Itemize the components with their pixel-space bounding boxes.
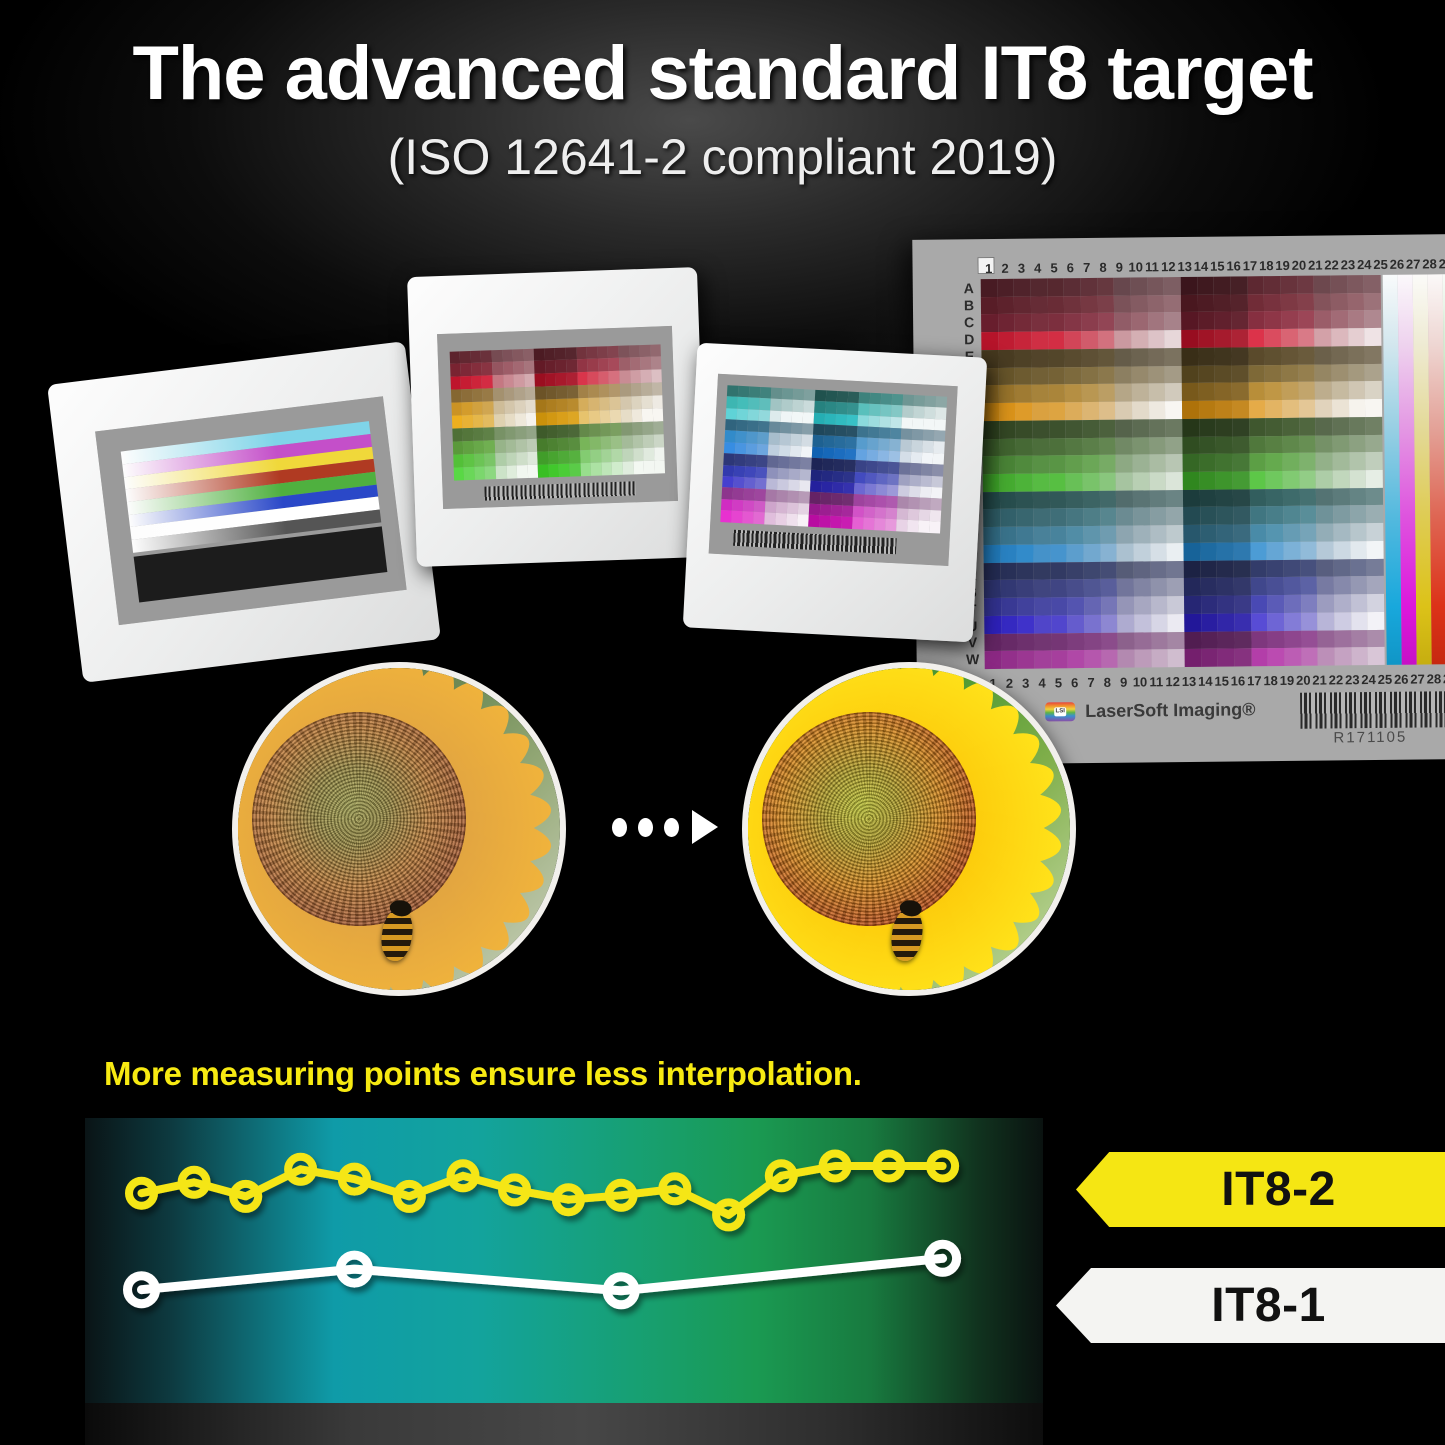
it8-color-patch bbox=[1315, 346, 1332, 364]
it8-color-patch bbox=[1051, 633, 1068, 651]
it8-color-patch bbox=[1284, 577, 1301, 595]
slide-2-patch bbox=[650, 344, 661, 357]
it8-color-patch bbox=[1264, 276, 1281, 294]
it8-color-patch bbox=[1068, 650, 1085, 668]
slide-2-patch bbox=[525, 387, 536, 400]
it8-color-patch bbox=[1133, 508, 1150, 526]
it8-color-patch bbox=[1014, 296, 1031, 314]
slide-2-patch bbox=[453, 441, 464, 454]
it8-color-patch bbox=[1118, 650, 1135, 668]
slide-2-patch bbox=[514, 375, 525, 388]
slide-3-patch bbox=[897, 508, 909, 520]
slide-2-patch bbox=[651, 357, 662, 370]
slide-2-patch bbox=[495, 453, 506, 466]
it8-color-patch bbox=[1249, 453, 1266, 471]
slide-3-patch bbox=[720, 510, 732, 522]
it8-color-patch bbox=[1099, 402, 1116, 420]
it8-color-patch bbox=[1015, 350, 1032, 368]
slide-3-patch bbox=[847, 403, 859, 415]
it8-row-letter: B bbox=[964, 298, 974, 315]
it8-color-patch bbox=[1365, 346, 1382, 364]
legend-it8-1-label: IT8-1 bbox=[1175, 1278, 1326, 1333]
it8-color-patch bbox=[1000, 509, 1017, 527]
it8-color-patch bbox=[1064, 278, 1081, 296]
it8-color-patch bbox=[1066, 509, 1083, 527]
it8-color-patch bbox=[1148, 330, 1165, 348]
it8-color-patch bbox=[1331, 311, 1348, 329]
it8-color-patch bbox=[1184, 560, 1201, 578]
it8-color-patch bbox=[1264, 311, 1281, 329]
slide-2-patch bbox=[608, 345, 619, 358]
slide-3-patch bbox=[767, 456, 779, 468]
slide-3-patch bbox=[919, 509, 931, 521]
slide-2-patch bbox=[503, 375, 514, 388]
it8-color-patch bbox=[1033, 473, 1050, 491]
slide-3-patch bbox=[932, 464, 944, 476]
slide-3-patch bbox=[854, 483, 866, 495]
slide-3-patch bbox=[811, 458, 823, 470]
page-subtitle: (ISO 12641-2 compliant 2019) bbox=[0, 128, 1445, 186]
slide-2-patch bbox=[471, 376, 482, 389]
it8-color-patch bbox=[1299, 417, 1316, 435]
slide-2-patch bbox=[473, 428, 484, 441]
series-it8-2 bbox=[129, 1154, 955, 1228]
slide-2-patch bbox=[502, 349, 513, 362]
it8-color-patch bbox=[1065, 349, 1082, 367]
it8-color-patch bbox=[1017, 544, 1034, 562]
slide-3-patch bbox=[824, 413, 836, 425]
it8-color-patch bbox=[1283, 524, 1300, 542]
it8-column-number: 5 bbox=[1046, 260, 1062, 275]
slide-2-patch bbox=[556, 386, 567, 399]
slide-2-patch bbox=[641, 383, 652, 396]
it8-column-number: 18 bbox=[1262, 673, 1278, 688]
it8-column-number: 28 bbox=[1421, 256, 1437, 271]
it8-color-patch bbox=[1283, 542, 1300, 560]
it8-color-patch bbox=[1267, 560, 1284, 578]
it8-color-patch bbox=[1100, 526, 1117, 544]
slide-3-patch bbox=[766, 467, 778, 479]
it8-color-patch bbox=[1282, 435, 1299, 453]
slide-3-patch bbox=[798, 491, 810, 503]
it8-color-patch bbox=[1316, 435, 1333, 453]
slide-3-patch bbox=[744, 477, 756, 489]
it8-color-patch bbox=[1032, 403, 1049, 421]
slide-2-patch bbox=[612, 449, 623, 462]
it8-color-patch bbox=[1081, 349, 1098, 367]
slide-3-patch bbox=[880, 416, 892, 428]
it8-color-patch bbox=[1048, 314, 1065, 332]
it8-color-patch bbox=[1283, 471, 1300, 489]
it8-color-patch bbox=[1265, 365, 1282, 383]
slide-3-patch bbox=[821, 481, 833, 493]
it8-color-patch bbox=[1349, 470, 1366, 488]
slide-2-patch bbox=[589, 398, 600, 411]
it8-color-patch bbox=[1299, 453, 1316, 471]
slide-2-patch bbox=[612, 462, 623, 475]
it8-color-patch bbox=[1366, 488, 1383, 506]
it8-row-letter: D bbox=[964, 332, 974, 349]
slide-3-patch bbox=[864, 495, 876, 507]
slide-2-patch bbox=[527, 439, 538, 452]
it8-color-patch bbox=[1251, 631, 1268, 649]
slide-3-patch bbox=[911, 452, 923, 464]
transition-dot-icon bbox=[638, 818, 653, 837]
slide-2-patch bbox=[462, 402, 473, 415]
slide-3-patch bbox=[900, 440, 912, 452]
it8-color-patch bbox=[1034, 615, 1051, 633]
slide-3-patch bbox=[869, 415, 881, 427]
it8-color-patch bbox=[1031, 296, 1048, 314]
it8-column-number: 13 bbox=[1181, 673, 1197, 688]
it8-color-patch bbox=[1134, 614, 1151, 632]
it8-color-patch bbox=[1132, 419, 1149, 437]
slide-3-patch bbox=[771, 387, 783, 399]
slide-3-patch bbox=[826, 390, 838, 402]
it8-color-patch bbox=[1350, 506, 1367, 524]
it8-color-patch bbox=[1048, 349, 1065, 367]
it8-color-patch bbox=[1149, 401, 1166, 419]
it8-color-patch bbox=[1116, 455, 1133, 473]
slide-3-patch bbox=[842, 505, 854, 517]
serial-number: R171105 bbox=[1333, 729, 1407, 747]
slide-2-film-window bbox=[437, 326, 678, 509]
slide-2-patch bbox=[557, 412, 568, 425]
it8-color-patch bbox=[1266, 506, 1283, 524]
slide-2-patch bbox=[526, 413, 537, 426]
slide-2-patch bbox=[517, 465, 528, 478]
it8-color-patch bbox=[1151, 596, 1168, 614]
it8-color-patch bbox=[984, 633, 1001, 651]
slide-3-patch bbox=[743, 500, 755, 512]
slide-3-patch bbox=[877, 461, 889, 473]
it8-color-patch bbox=[1017, 527, 1034, 545]
slide-2-patch bbox=[473, 415, 484, 428]
it8-color-patch bbox=[1066, 491, 1083, 509]
slide-2-patch bbox=[587, 346, 598, 359]
it8-color-patch bbox=[1100, 508, 1117, 526]
slide-2-patch bbox=[534, 348, 545, 361]
slide-2-patch bbox=[558, 425, 569, 438]
slide-3-patch bbox=[836, 402, 848, 414]
it8-column-number: 4 bbox=[1029, 260, 1045, 275]
slide-2-patch bbox=[535, 387, 546, 400]
slide-2-patch bbox=[503, 362, 514, 375]
it8-color-patch bbox=[1250, 524, 1267, 542]
it8-color-patch bbox=[1314, 293, 1331, 311]
slide-3-patch bbox=[857, 426, 869, 438]
it8-color-patch bbox=[1315, 382, 1332, 400]
slide-3-patch bbox=[793, 388, 805, 400]
it8-color-patch bbox=[1331, 346, 1348, 364]
slide-3-patch bbox=[744, 466, 756, 478]
slide-3-patch bbox=[856, 449, 868, 461]
it8-color-patch bbox=[1231, 312, 1248, 330]
it8-color-patch bbox=[1248, 383, 1265, 401]
slide-2-patch bbox=[484, 440, 495, 453]
slide-3-patch bbox=[907, 520, 919, 532]
it8-color-patch bbox=[1165, 330, 1182, 348]
it8-color-patch bbox=[1298, 293, 1315, 311]
it8-color-patch bbox=[1364, 293, 1381, 311]
it8-color-patch bbox=[1318, 648, 1335, 666]
it8-color-patch bbox=[1132, 366, 1149, 384]
it8-color-patch bbox=[1267, 577, 1284, 595]
it8-color-patch bbox=[1200, 489, 1217, 507]
slide-3-patch bbox=[732, 499, 744, 511]
it8-color-patch bbox=[1031, 349, 1048, 367]
it8-color-patch bbox=[1231, 294, 1248, 312]
it8-color-patch bbox=[1083, 526, 1100, 544]
slide-3-patch bbox=[901, 428, 913, 440]
slide-3-patch bbox=[887, 485, 899, 497]
slide-2-patch bbox=[622, 448, 633, 461]
slide-3-patch bbox=[897, 497, 909, 509]
it8-color-patch bbox=[1049, 438, 1066, 456]
it8-color-patch bbox=[1368, 629, 1385, 647]
it8-column-number: 20 bbox=[1291, 257, 1307, 272]
it8-color-patch bbox=[1235, 649, 1252, 667]
it8-color-patch bbox=[1049, 456, 1066, 474]
it8-color-patch bbox=[1016, 456, 1033, 474]
slide-2-patch bbox=[601, 436, 612, 449]
slide-2-patch bbox=[578, 385, 589, 398]
it8-color-patch bbox=[1133, 526, 1150, 544]
it8-color-patch bbox=[1081, 278, 1098, 296]
it8-color-patch-grid bbox=[981, 275, 1385, 669]
it8-color-patch bbox=[1100, 579, 1117, 597]
it8-color-patch bbox=[1183, 543, 1200, 561]
it8-color-patch bbox=[1316, 453, 1333, 471]
sunflower-after-content bbox=[742, 662, 1076, 996]
it8-color-patch bbox=[1217, 525, 1234, 543]
it8-color-patch bbox=[1268, 648, 1285, 666]
it8-color-patch bbox=[1168, 649, 1185, 667]
slide-2-patch bbox=[609, 384, 620, 397]
it8-color-patch bbox=[1166, 507, 1183, 525]
it8-column-number: 10 bbox=[1127, 259, 1143, 274]
slide-3-patch bbox=[855, 472, 867, 484]
slide-3-patch bbox=[935, 419, 947, 431]
it8-color-patch bbox=[1034, 597, 1051, 615]
slide-3-patch bbox=[810, 481, 822, 493]
slide-3-patch bbox=[902, 417, 914, 429]
it8-color-patch bbox=[1218, 631, 1235, 649]
it8-color-patch bbox=[1366, 470, 1383, 488]
slide-2-patch bbox=[475, 467, 486, 480]
slide-2-patch bbox=[546, 386, 557, 399]
it8-color-patch bbox=[1281, 276, 1298, 294]
slide-3-patch bbox=[747, 420, 759, 432]
it8-color-patch bbox=[1082, 437, 1099, 455]
it8-color-patch bbox=[1231, 330, 1248, 348]
it8-color-patch bbox=[1118, 632, 1135, 650]
it8-color-patch bbox=[1218, 649, 1235, 667]
slide-3-patch bbox=[934, 430, 946, 442]
it8-color-patch bbox=[1249, 400, 1266, 418]
it8-column-number: 28 bbox=[1426, 671, 1442, 686]
slide-2-patch bbox=[568, 424, 579, 437]
slide-3-patch bbox=[812, 447, 824, 459]
slide-3-patch bbox=[833, 470, 845, 482]
slide-2-patch bbox=[640, 357, 651, 370]
slide-2-patch bbox=[608, 358, 619, 371]
it8-color-patch bbox=[1165, 419, 1182, 437]
it8-color-patch bbox=[1316, 488, 1333, 506]
slide-3-patch bbox=[836, 414, 848, 426]
it8-color-patch bbox=[1215, 383, 1232, 401]
slide-2-patch bbox=[474, 441, 485, 454]
slide-3-patch-grid bbox=[720, 385, 948, 533]
it8-color-patch bbox=[1065, 331, 1082, 349]
slide-2-patch bbox=[538, 464, 549, 477]
slide-2-patch bbox=[567, 386, 578, 399]
it8-color-patch bbox=[1164, 295, 1181, 313]
slide-2-patch bbox=[453, 454, 464, 467]
slide-3-patch bbox=[847, 414, 859, 426]
it8-column-number: 12 bbox=[1164, 674, 1180, 689]
it8-color-patch bbox=[1131, 277, 1148, 295]
it8-color-patch bbox=[1117, 597, 1134, 615]
slide-2-patch bbox=[452, 428, 463, 441]
slide-2-patch bbox=[576, 346, 587, 359]
it8-color-patch bbox=[1349, 417, 1366, 435]
it8-color-patch bbox=[1233, 489, 1250, 507]
slide-2-patch bbox=[504, 388, 515, 401]
it8-color-patch bbox=[1214, 312, 1231, 330]
it8-column-number: 16 bbox=[1230, 673, 1246, 688]
it8-color-patch bbox=[1116, 473, 1133, 491]
it8-column-number: 16 bbox=[1225, 258, 1241, 273]
slide-2-patch bbox=[633, 448, 644, 461]
it8-column-number: 21 bbox=[1307, 257, 1323, 272]
slide-2-patch bbox=[622, 436, 633, 449]
it8-color-patch bbox=[1131, 295, 1148, 313]
it8-color-patch bbox=[1067, 526, 1084, 544]
it8-color-patch bbox=[998, 367, 1015, 385]
it8-color-patch bbox=[1149, 419, 1166, 437]
slide-3-patch bbox=[934, 442, 946, 454]
it8-color-patch bbox=[1348, 346, 1365, 364]
slide-2-patch bbox=[600, 423, 611, 436]
it8-color-patch bbox=[1150, 543, 1167, 561]
slide-3-patch bbox=[899, 463, 911, 475]
slide-2-patch bbox=[588, 372, 599, 385]
it8-color-patch bbox=[1017, 580, 1034, 598]
it8-color-patch bbox=[985, 651, 1002, 669]
slide-3-patch bbox=[913, 418, 925, 430]
slide-2-patch bbox=[536, 413, 547, 426]
slide-3-patch bbox=[823, 447, 835, 459]
slide-2-patch bbox=[505, 427, 516, 440]
it8-color-patch bbox=[1031, 278, 1048, 296]
slide-3-patch bbox=[878, 450, 890, 462]
slide-2-patch bbox=[559, 451, 570, 464]
slide-2-patch bbox=[633, 461, 644, 474]
slide-3-patch bbox=[808, 515, 820, 527]
slide-3-patch bbox=[733, 477, 745, 489]
legend-it8-2[interactable]: IT8-2 bbox=[1076, 1152, 1445, 1227]
it8-color-patch bbox=[1284, 613, 1301, 631]
slide-3-patch bbox=[749, 386, 761, 398]
slide-2-patch bbox=[463, 441, 474, 454]
slide-2-patch bbox=[629, 345, 640, 358]
it8-color-patch bbox=[1081, 313, 1098, 331]
it8-color-patch bbox=[1031, 332, 1048, 350]
it8-color-patch bbox=[1301, 612, 1318, 630]
slide-3-patch bbox=[832, 482, 844, 494]
it8-color-patch bbox=[1183, 472, 1200, 490]
it8-color-patch bbox=[1132, 384, 1149, 402]
slide-2-patch bbox=[450, 377, 461, 390]
it8-color-patch bbox=[1201, 596, 1218, 614]
it8-column-number: 24 bbox=[1360, 672, 1376, 687]
slide-3-patch bbox=[837, 391, 849, 403]
slide-2-patch bbox=[482, 389, 493, 402]
slide-3-patch bbox=[737, 397, 749, 409]
slide-3-patch bbox=[726, 385, 738, 397]
it8-color-patch bbox=[1300, 488, 1317, 506]
slide-2-patch bbox=[485, 453, 496, 466]
slide-3-patch bbox=[923, 430, 935, 442]
slide-3-patch bbox=[864, 506, 876, 518]
it8-gradient-ramps bbox=[1383, 274, 1445, 665]
it8-color-patch bbox=[1297, 276, 1314, 294]
it8-color-patch bbox=[1234, 578, 1251, 596]
slide-3-patch bbox=[757, 432, 769, 444]
slide-3-patch bbox=[814, 401, 826, 413]
slide-2-patch bbox=[609, 371, 620, 384]
it8-color-patch bbox=[1017, 598, 1034, 616]
slide-2-patch bbox=[611, 436, 622, 449]
it8-color-patch bbox=[1249, 471, 1266, 489]
it8-color-patch bbox=[1233, 524, 1250, 542]
it8-color-patch bbox=[1267, 542, 1284, 560]
it8-color-patch bbox=[1184, 614, 1201, 632]
it8-color-patch bbox=[1317, 541, 1334, 559]
slide-3-patch bbox=[780, 422, 792, 434]
it8-color-patch bbox=[1249, 436, 1266, 454]
slide-3-patch bbox=[875, 507, 887, 519]
slide-1-film bbox=[95, 396, 407, 625]
slide-2-patch bbox=[555, 347, 566, 360]
it8-color-patch bbox=[1318, 612, 1335, 630]
it8-column-number: 23 bbox=[1344, 672, 1360, 687]
it8-column-number: 11 bbox=[1144, 259, 1160, 274]
slide-3-patch bbox=[932, 476, 944, 488]
arrow-right-icon bbox=[692, 810, 718, 844]
it8-color-patch bbox=[1268, 613, 1285, 631]
it8-column-number: 24 bbox=[1356, 257, 1372, 272]
slide-2-barcode-icon bbox=[485, 481, 636, 500]
slide-3-patch bbox=[725, 419, 737, 431]
slide-2-patch bbox=[569, 437, 580, 450]
it8-color-patch bbox=[1284, 595, 1301, 613]
it8-color-patch bbox=[1284, 630, 1301, 648]
it8-color-patch bbox=[1081, 296, 1098, 314]
slide-3-patch bbox=[765, 501, 777, 513]
it8-color-patch bbox=[1332, 435, 1349, 453]
slide-3-patch bbox=[888, 473, 900, 485]
it8-color-patch bbox=[1051, 615, 1068, 633]
it8-color-patch bbox=[1133, 490, 1150, 508]
legend-it8-1[interactable]: IT8-1 bbox=[1056, 1268, 1445, 1343]
it8-color-patch bbox=[1117, 526, 1134, 544]
it8-color-patch bbox=[1232, 436, 1249, 454]
slide-2-patch bbox=[452, 416, 463, 429]
slide-3-patch bbox=[935, 407, 947, 419]
it8-color-patch bbox=[999, 403, 1016, 421]
